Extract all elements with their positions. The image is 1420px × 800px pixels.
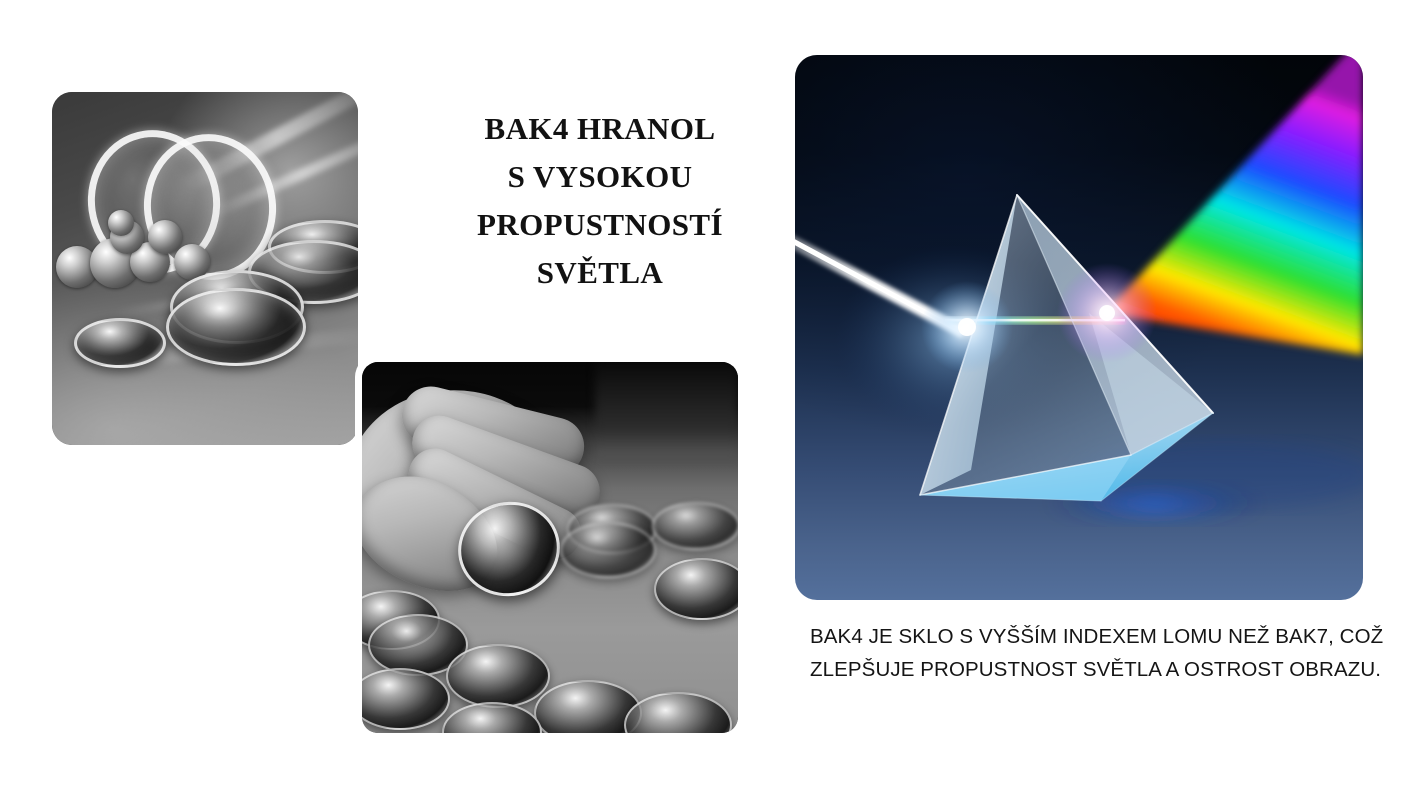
headline-line-4: SVĚTLA xyxy=(420,249,780,297)
photo-optical-lenses xyxy=(52,92,358,445)
headline-line-2: S VYSOKOU xyxy=(420,153,780,201)
headline-line-3: PROPUSTNOSTÍ xyxy=(420,201,780,249)
photo-prism-spectrum xyxy=(795,55,1363,600)
beam-exit-core xyxy=(1099,305,1115,321)
lens-disc xyxy=(166,288,306,366)
lens-disc xyxy=(74,318,166,368)
headline-line-1: BAK4 HRANOL xyxy=(420,105,780,153)
glass-bead xyxy=(148,220,182,254)
tray-lens xyxy=(446,644,550,708)
caption-text: BAK4 JE SKLO S VYŠŠÍM INDEXEM LOMU NEŽ B… xyxy=(810,620,1400,686)
glass-bead xyxy=(108,210,134,236)
tray-lens xyxy=(560,522,656,578)
background-shadow xyxy=(595,362,738,458)
photo-hand-inner xyxy=(362,362,738,733)
prism-illustration-svg xyxy=(795,55,1363,600)
infographic-page: BAK4 HRANOL S VYSOKOU PROPUSTNOSTÍ SVĚTL… xyxy=(0,0,1420,800)
beam-entry-core xyxy=(958,318,976,336)
tray-lens xyxy=(652,502,738,550)
photo-gloved-hand xyxy=(355,355,745,740)
headline: BAK4 HRANOL S VYSOKOU PROPUSTNOSTÍ SVĚTL… xyxy=(420,105,780,297)
